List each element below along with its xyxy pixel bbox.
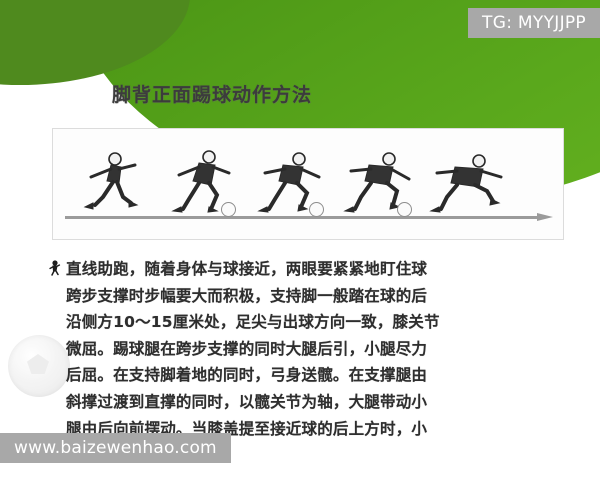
- body-line-2: 跨步支撑时步幅要大而积极，支持脚一般踏在球的后: [66, 283, 566, 310]
- kick-figure-5: [423, 147, 509, 219]
- illustration-panel: [52, 128, 564, 240]
- bottom-left-watermark: www.baizewenhao.com: [0, 433, 231, 463]
- body-line-3: 沿侧方10～15厘米处，足尖与出球方向一致，膝关节: [66, 309, 566, 336]
- soccer-ball-1-icon: [221, 202, 236, 217]
- bottom-white-strip: [0, 463, 600, 480]
- green-shape-left: [0, 0, 190, 85]
- soccer-ball-watermark-icon: [8, 335, 70, 397]
- body-line-5: 后屈。在支持脚着地的同时，弓身送髋。在支撑腿由: [66, 362, 566, 389]
- kick-figure-1: [69, 147, 155, 219]
- illustration-canvas: [61, 135, 555, 233]
- body-line-6: 斜撑过渡到直撑的同时，以髋关节为轴，大腿带动小: [66, 389, 566, 416]
- body-line-4: 微屈。踢球腿在跨步支撑的同时大腿后引，小腿尽力: [66, 336, 566, 363]
- top-right-watermark: TG: MYYJJPP: [468, 8, 600, 38]
- body-paragraph: 直线助跑，随着身体与球接近，两眼要紧紧地盯住球 跨步支撑时步幅要大而积极，支持脚…: [66, 256, 566, 442]
- page-title: 脚背正面踢球动作方法: [112, 80, 312, 107]
- soccer-player-bullet-icon: [48, 260, 61, 277]
- soccer-ball-2-icon: [309, 202, 324, 217]
- soccer-ball-3-icon: [397, 202, 412, 217]
- body-line-1: 直线助跑，随着身体与球接近，两眼要紧紧地盯住球: [66, 256, 566, 283]
- presentation-slide: 脚背正面踢球动作方法: [0, 0, 600, 480]
